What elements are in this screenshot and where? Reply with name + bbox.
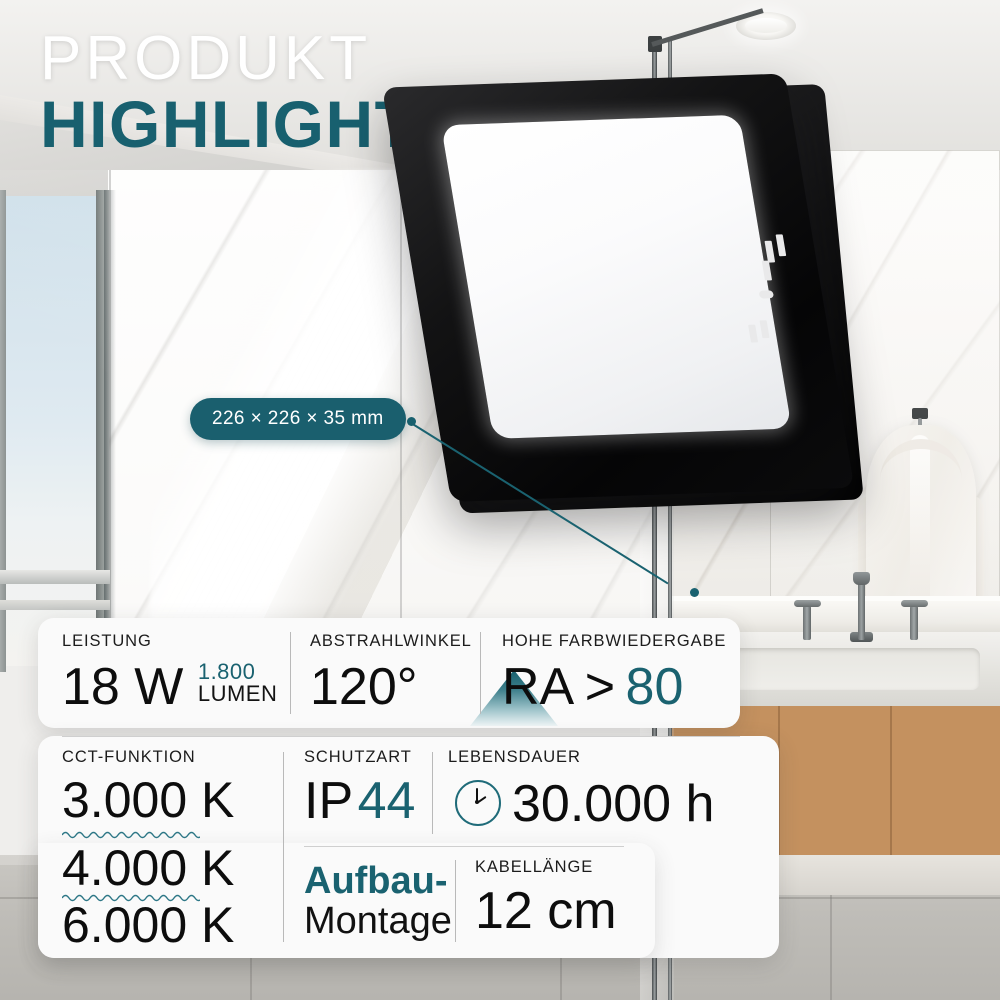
spec-kabellaenge: KABELLÄNGE 12 cm <box>475 858 617 937</box>
card-notch-mask <box>655 838 785 963</box>
spec-farbwiedergabe: HOHE FARBWIEDERGABE RA > 80 <box>502 632 726 713</box>
spec-ip-prefix: IP <box>304 772 353 830</box>
spec-lebensdauer-label: LEBENSDAUER <box>448 748 581 767</box>
spec-montage: Aufbau- Montage <box>304 862 452 942</box>
spec-cct-value-1: 3.000 K <box>62 775 234 825</box>
divider-vertical <box>290 632 291 714</box>
divider-horizontal <box>304 846 624 847</box>
panel-housing <box>382 74 855 502</box>
clock-icon <box>455 780 501 826</box>
spec-abstrahlwinkel-value: 120° <box>310 658 418 716</box>
spec-cct-value-3: 6.000 K <box>62 900 234 950</box>
divider-vertical <box>432 752 433 834</box>
dimension-endpoint-dot <box>690 588 699 597</box>
spec-lebensdauer: LEBENSDAUER <box>448 748 581 767</box>
spec-farbwiedergabe-label: HOHE FARBWIEDERGABE <box>502 632 726 651</box>
spec-lumen-number: 1.800 <box>198 661 278 683</box>
spec-cct-label: CCT-FUNKTION <box>62 748 234 767</box>
spec-montage-line-2: Montage <box>304 902 452 942</box>
spec-lumen-unit: LUMEN <box>198 683 278 705</box>
divider-horizontal <box>62 736 740 737</box>
faucet-handle-right <box>910 606 918 640</box>
spec-ra-prefix: RA <box>502 658 574 716</box>
robe-hook-icon <box>912 408 928 419</box>
spec-kabellaenge-label: KABELLÄNGE <box>475 858 617 877</box>
window-sill <box>0 570 110 584</box>
sink-bowl <box>730 648 980 690</box>
spec-cct: CCT-FUNKTION 3.000 K <box>62 748 234 825</box>
window-sill-lower <box>0 600 110 610</box>
wavy-line-icon <box>62 830 200 839</box>
spec-ip-value: 44 <box>358 772 416 830</box>
dimension-badge-label: 226 × 226 × 35 mm <box>212 408 384 430</box>
dimension-badge: 226 × 226 × 35 mm <box>190 398 406 440</box>
spec-ra-operator: > <box>585 658 615 716</box>
spec-leistung: LEISTUNG 18 W 1.800 LUMEN <box>62 632 277 713</box>
divider-vertical <box>480 632 481 714</box>
spec-abstrahlwinkel: ABSTRAHLWINKEL 120° <box>310 632 472 713</box>
spec-leistung-label: LEISTUNG <box>62 632 277 651</box>
product-image <box>402 60 892 620</box>
led-panel-icon <box>365 56 859 495</box>
spec-leistung-value: 18 W <box>62 658 183 716</box>
spec-schutzart: SCHUTZART IP 44 <box>304 748 415 827</box>
product-highlight-infographic: PRODUKT HIGHLIGHTS 226 × 226 × 35 mm L <box>0 0 1000 1000</box>
window <box>0 196 108 666</box>
spec-schutzart-label: SCHUTZART <box>304 748 415 767</box>
spec-abstrahlwinkel-label: ABSTRAHLWINKEL <box>310 632 472 651</box>
spec-lumen: 1.800 LUMEN <box>198 661 278 706</box>
spec-lebensdauer-value: 30.000 h <box>512 778 714 830</box>
spec-ra-value: 80 <box>626 658 684 716</box>
divider-vertical <box>283 752 284 942</box>
divider-vertical <box>455 860 456 942</box>
spec-kabellaenge-value: 12 cm <box>475 885 617 937</box>
panel-diffuser <box>441 115 792 439</box>
spec-card-top: LEISTUNG 18 W 1.800 LUMEN ABSTRAHLWINKEL… <box>38 618 740 728</box>
spec-montage-line-1: Aufbau- <box>304 862 452 902</box>
spec-cct-value-2: 4.000 K <box>62 843 234 893</box>
